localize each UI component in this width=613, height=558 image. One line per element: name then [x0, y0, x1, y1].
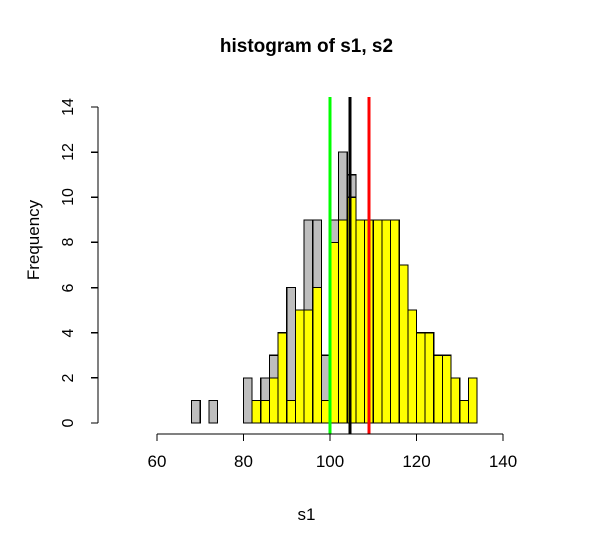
y-tick-label: 12 — [60, 132, 78, 172]
histogram-bar — [425, 333, 434, 423]
histogram-bar — [278, 333, 287, 423]
x-tick-label: 80 — [214, 452, 274, 472]
histogram-bar — [460, 400, 469, 423]
histogram-bar — [417, 333, 426, 423]
series-s2-bars — [252, 197, 477, 423]
histogram-bar — [373, 220, 382, 423]
histogram-bar — [382, 220, 391, 423]
histogram-bar — [192, 400, 201, 423]
y-tick-label: 2 — [60, 358, 78, 398]
y-tick-label: 0 — [60, 403, 78, 443]
x-tick-label: 60 — [127, 452, 187, 472]
histogram-bar — [451, 378, 460, 423]
histogram-bar — [339, 220, 348, 423]
y-tick-label: 4 — [60, 313, 78, 353]
histogram-bar — [442, 355, 451, 423]
histogram-plot: histogram of s1, s2 Frequency s1 0246810… — [0, 0, 613, 558]
histogram-bar — [252, 400, 261, 423]
histogram-bar — [287, 400, 296, 423]
x-tick-label: 140 — [473, 452, 533, 472]
histogram-bar — [261, 400, 270, 423]
y-tick-label: 8 — [60, 222, 78, 262]
histogram-bar — [304, 310, 313, 423]
histogram-bar — [356, 220, 365, 423]
histogram-bar — [468, 378, 477, 423]
histogram-bar — [244, 378, 253, 423]
histogram-bar — [391, 220, 400, 423]
histogram-bar — [434, 355, 443, 423]
histogram-bar — [295, 310, 304, 423]
y-tick-label: 10 — [60, 177, 78, 217]
y-tick-label: 14 — [60, 87, 78, 127]
histogram-bar — [209, 400, 218, 423]
histogram-bar — [313, 288, 322, 423]
plot-canvas — [0, 0, 613, 558]
histogram-bar — [269, 378, 278, 423]
histogram-bar — [408, 310, 417, 423]
x-tick-label: 120 — [387, 452, 447, 472]
y-tick-label: 6 — [60, 268, 78, 308]
histogram-bar — [399, 265, 408, 423]
x-tick-label: 100 — [300, 452, 360, 472]
